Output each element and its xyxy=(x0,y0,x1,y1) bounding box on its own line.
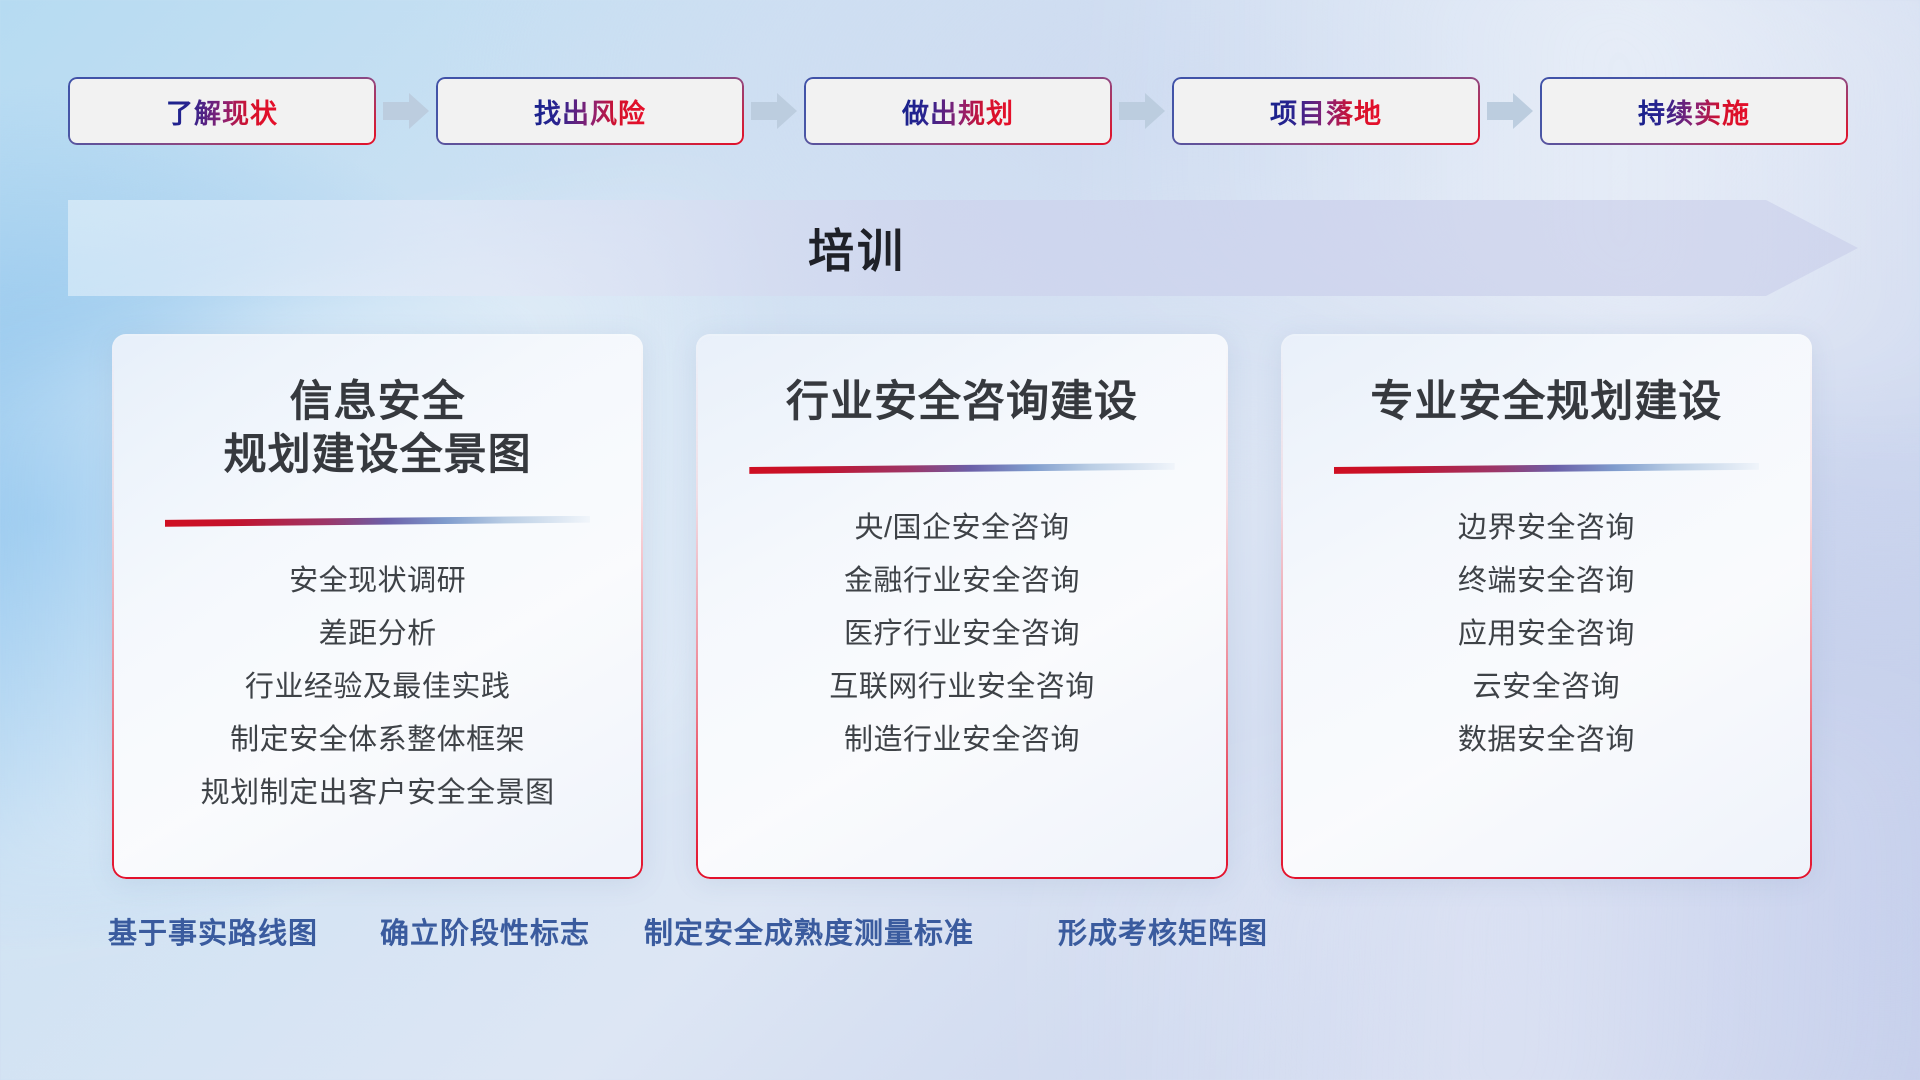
list-item: 数据安全咨询 xyxy=(1305,726,1788,755)
caption-1: 基于事实路线图 xyxy=(108,910,318,952)
caption-3: 制定安全成熟度测量标准 xyxy=(644,910,974,952)
caption-4: 形成考核矩阵图 xyxy=(1058,910,1268,952)
list-item: 医疗行业安全咨询 xyxy=(720,620,1203,649)
arrow-right-icon xyxy=(751,91,797,131)
list-item: 安全现状调研 xyxy=(136,567,619,596)
card-divider xyxy=(1334,463,1759,474)
arrow-right-icon xyxy=(1119,91,1165,131)
card-divider xyxy=(749,463,1174,474)
arrow-right-icon xyxy=(383,91,429,131)
card-title: 行业安全咨询建设 xyxy=(786,376,1138,429)
list-item: 终端安全咨询 xyxy=(1305,567,1788,596)
training-banner: 培训 xyxy=(68,200,1858,296)
card-2[interactable]: 行业安全咨询建设央/国企安全咨询金融行业安全咨询医疗行业安全咨询互联网行业安全咨… xyxy=(696,334,1227,879)
card-item-list: 央/国企安全咨询金融行业安全咨询医疗行业安全咨询互联网行业安全咨询制造行业安全咨… xyxy=(720,514,1203,755)
card-1[interactable]: 信息安全 规划建设全景图安全现状调研差距分析行业经验及最佳实践制定安全体系整体框… xyxy=(112,334,643,879)
card-row: 信息安全 规划建设全景图安全现状调研差距分析行业经验及最佳实践制定安全体系整体框… xyxy=(112,334,1812,879)
step-label: 项目落地 xyxy=(1270,92,1382,131)
footer-captions: 基于事实路线图确立阶段性标志制定安全成熟度测量标准形成考核矩阵图 xyxy=(0,910,1920,970)
card-divider xyxy=(165,516,590,527)
list-item: 行业经验及最佳实践 xyxy=(136,673,619,702)
step-label: 了解现状 xyxy=(166,92,278,131)
list-item: 互联网行业安全咨询 xyxy=(720,673,1203,702)
process-steps: 了解现状找出风险做出规划项目落地持续实施 xyxy=(68,76,1858,146)
card-title: 专业安全规划建设 xyxy=(1370,376,1722,429)
list-item: 央/国企安全咨询 xyxy=(720,514,1203,543)
step-arrow-2 xyxy=(744,89,804,133)
step-arrow-4 xyxy=(1480,89,1540,133)
list-item: 差距分析 xyxy=(136,620,619,649)
step-box-1[interactable]: 了解现状 xyxy=(68,77,376,145)
card-title: 信息安全 规划建设全景图 xyxy=(224,376,532,482)
list-item: 云安全咨询 xyxy=(1305,673,1788,702)
arrow-right-icon xyxy=(1487,91,1533,131)
step-box-4[interactable]: 项目落地 xyxy=(1172,77,1480,145)
banner-title: 培训 xyxy=(0,200,1766,296)
list-item: 制造行业安全咨询 xyxy=(720,726,1203,755)
card-item-list: 安全现状调研差距分析行业经验及最佳实践制定安全体系整体框架规划制定出客户安全全景… xyxy=(136,567,619,808)
step-box-5[interactable]: 持续实施 xyxy=(1540,77,1848,145)
list-item: 制定安全体系整体框架 xyxy=(136,726,619,755)
list-item: 应用安全咨询 xyxy=(1305,620,1788,649)
step-label: 找出风险 xyxy=(534,92,646,131)
step-label: 持续实施 xyxy=(1638,92,1750,131)
card-item-list: 边界安全咨询终端安全咨询应用安全咨询云安全咨询数据安全咨询 xyxy=(1305,514,1788,755)
step-box-2[interactable]: 找出风险 xyxy=(436,77,744,145)
list-item: 规划制定出客户安全全景图 xyxy=(136,779,619,808)
step-box-3[interactable]: 做出规划 xyxy=(804,77,1112,145)
card-3[interactable]: 专业安全规划建设边界安全咨询终端安全咨询应用安全咨询云安全咨询数据安全咨询 xyxy=(1281,334,1812,879)
list-item: 金融行业安全咨询 xyxy=(720,567,1203,596)
step-label: 做出规划 xyxy=(902,92,1014,131)
step-arrow-3 xyxy=(1112,89,1172,133)
step-arrow-1 xyxy=(376,89,436,133)
list-item: 边界安全咨询 xyxy=(1305,514,1788,543)
caption-2: 确立阶段性标志 xyxy=(380,910,590,952)
